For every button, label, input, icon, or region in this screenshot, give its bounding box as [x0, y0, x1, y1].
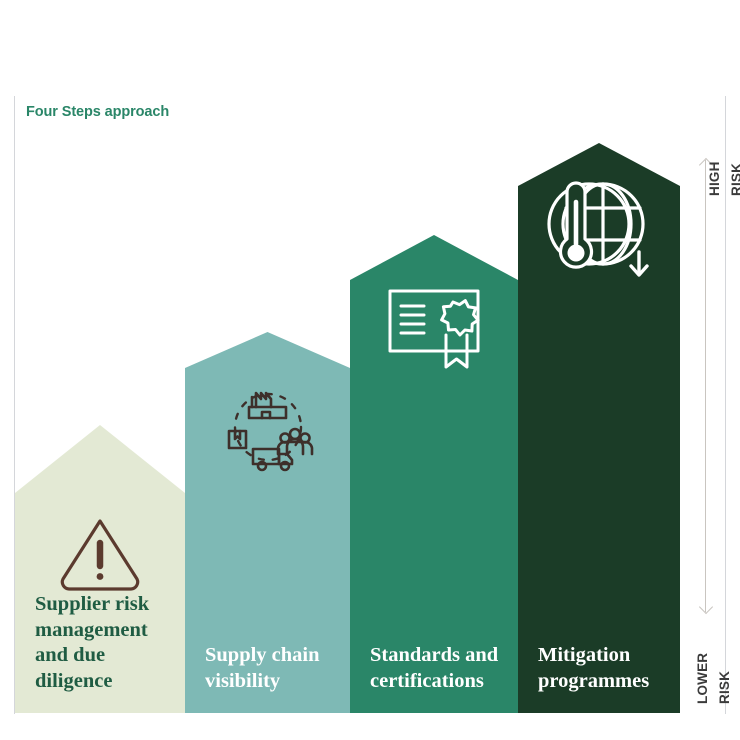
infographic-canvas: Four Steps approach Supplier risk manage… — [0, 0, 740, 740]
axis-label-high-risk: RISK — [729, 163, 740, 196]
bar-cap-2 — [185, 332, 350, 368]
page-title: Four Steps approach — [26, 104, 169, 120]
axis-label-lower-risk: RISK — [717, 671, 732, 704]
axis-label-high: HIGH — [707, 161, 722, 196]
bar-standards-and-certifications[interactable]: Standards and certifications — [350, 235, 518, 713]
warning-triangle-icon — [15, 513, 185, 593]
bar-supply-chain-visibility[interactable]: Supply chain visibility — [185, 332, 350, 713]
bar-label-2: Supply chain visibility — [185, 643, 320, 713]
bar-cap-1 — [15, 425, 185, 493]
bar-label-3: Standards and certifications — [350, 643, 498, 713]
bar-mitigation-programmes[interactable]: Mitigation programmes — [518, 143, 680, 713]
axis-label-lower: LOWER — [695, 653, 710, 704]
bar-label-4: Mitigation programmes — [518, 643, 649, 713]
certificate-icon — [350, 283, 518, 375]
bar-cap-3 — [350, 235, 518, 280]
supply-chain-cycle-icon — [185, 375, 350, 479]
right-axis-rule — [725, 96, 726, 714]
bar-label-1: Supplier risk management and due diligen… — [15, 592, 149, 713]
globe-thermometer-icon — [518, 170, 680, 282]
risk-axis-arrow — [705, 160, 706, 612]
bar-supplier-risk-management[interactable]: Supplier risk management and due diligen… — [15, 425, 185, 713]
